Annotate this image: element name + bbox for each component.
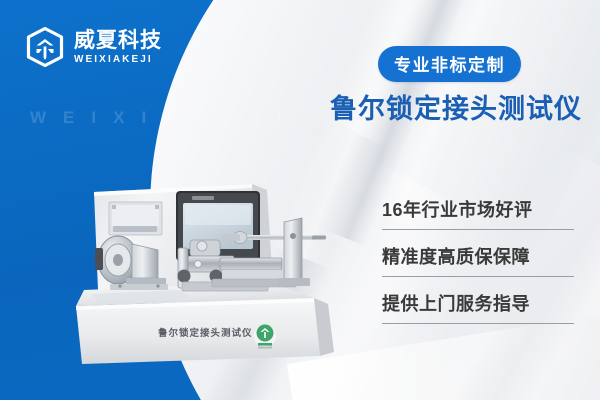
brand-name-cn: 威夏科技: [74, 30, 162, 51]
product-base-label: 鲁尔锁定接头测试仪: [158, 327, 253, 339]
svg-text:鲁尔锁定接头测试仪: 鲁尔锁定接头测试仪: [158, 327, 253, 339]
machine-panel-tray: [109, 202, 162, 235]
brand-logo-text: 威夏科技 WEIXIAKEJI: [74, 30, 162, 65]
brand-logo: 威夏科技 WEIXIAKEJI: [26, 27, 162, 67]
product-banner: 威夏科技 WEIXIAKEJI WEIXIAKEJI 专业非标定制 鲁尔锁定接头…: [0, 0, 600, 400]
feature-item: 16年行业市场好评: [382, 196, 574, 230]
brand-watermark: WEIXIAKEJI: [30, 108, 298, 128]
page-title: 鲁尔锁定接头测试仪: [330, 87, 582, 126]
hexagon-shield-logo-icon: [26, 27, 64, 67]
feature-item: 精准度高质保保障: [382, 243, 574, 277]
hero-badge: 专业非标定制: [378, 46, 521, 82]
machine-test-rod: [222, 232, 326, 244]
brand-name-en: WEIXIAKEJI: [74, 55, 162, 65]
feature-item: 提供上门服务指导: [382, 290, 574, 324]
feature-list: 16年行业市场好评 精准度高质保保障 提供上门服务指导: [382, 196, 574, 324]
product-image: 鲁尔锁定接头测试仪: [62, 178, 362, 378]
